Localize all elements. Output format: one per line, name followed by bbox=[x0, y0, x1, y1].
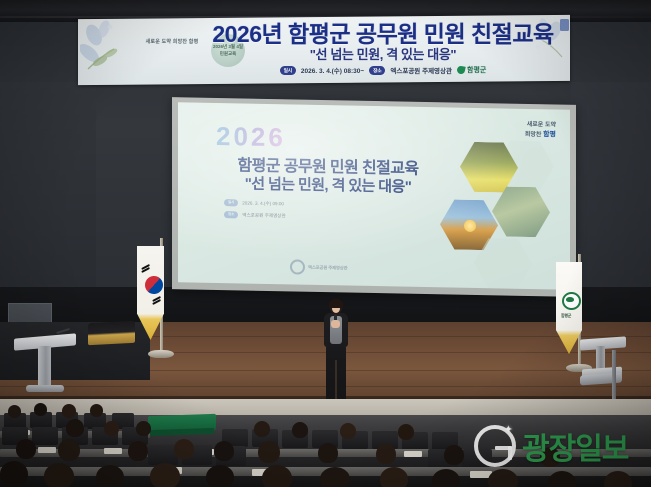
korean-flag-base bbox=[148, 350, 174, 358]
podium-base bbox=[26, 385, 64, 392]
event-banner: 새로운 도약 희망찬 함평 2026년 3월 4일 민원교육 2026년 함평군… bbox=[78, 15, 570, 85]
slide-hex-gallery bbox=[440, 141, 564, 255]
attendee-head bbox=[262, 465, 292, 487]
floral-decoration-icon bbox=[80, 19, 152, 81]
banner-place-pill: 장소 bbox=[369, 66, 385, 75]
banner-date-value: 2026. 3. 4.(수) 08:30~ bbox=[301, 65, 364, 75]
attendee-head bbox=[0, 461, 28, 487]
circle-mark-icon bbox=[290, 259, 305, 274]
attendee-head bbox=[58, 439, 80, 461]
handout-paper bbox=[38, 447, 56, 453]
attendee-head bbox=[320, 467, 350, 487]
attendee-head bbox=[258, 441, 280, 463]
slide-date-tag: 일시 bbox=[224, 199, 238, 206]
hampyeong-emblem-icon bbox=[562, 292, 581, 310]
slide-place-tag: 장소 bbox=[224, 211, 238, 218]
banner-meta: 일시 2026. 3. 4.(수) 08:30~ 장소 엑스포공원 주제영상관 … bbox=[198, 65, 568, 75]
attendee-head bbox=[254, 421, 270, 437]
attendee-head bbox=[16, 439, 36, 459]
slide-date-value: 2026. 3. 4.(수) 09:00 bbox=[242, 200, 284, 207]
slide-footer-text: 엑스포공원 주제영상관 bbox=[308, 264, 347, 271]
attendee-head bbox=[206, 465, 234, 487]
slide-subtitle: "선 넘는 민원, 격 있는 대응" bbox=[206, 172, 450, 198]
speaker-hands bbox=[331, 320, 340, 328]
banner-date-pill: 일시 bbox=[280, 66, 296, 75]
attendee-head bbox=[432, 469, 460, 487]
attendee-head bbox=[488, 469, 518, 487]
river-landscape-photo bbox=[492, 186, 550, 237]
watermark: ✦ 광장일보 bbox=[474, 424, 628, 468]
attendee-head bbox=[444, 445, 464, 465]
seat bbox=[32, 427, 58, 445]
attendee-head bbox=[214, 441, 234, 461]
banner-organizer-label: 함평군 bbox=[467, 65, 486, 75]
slide-place-value: 엑스포공원 주제영상관 bbox=[242, 212, 286, 219]
attendee-head bbox=[340, 423, 356, 439]
leaf-icon bbox=[456, 65, 465, 74]
slide-year: 2026 bbox=[216, 121, 286, 153]
attendee-head bbox=[66, 419, 84, 437]
attendee-head bbox=[380, 467, 408, 487]
sparkle-icon: ✦ bbox=[504, 425, 513, 436]
attendee-head bbox=[150, 463, 180, 487]
podium-stem bbox=[38, 346, 51, 388]
attendee-head bbox=[128, 441, 148, 461]
watermark-text: 광장일보 bbox=[522, 424, 628, 468]
green-front-desk-side bbox=[150, 428, 214, 436]
banner-place-value: 엑스포공원 주제영상관 bbox=[390, 65, 452, 75]
attendee-head bbox=[8, 405, 21, 418]
lantern-glow-icon bbox=[464, 220, 476, 232]
projection-screen: 2026 함평군 공무원 민원 친절교육 "선 넘는 민원, 격 있는 대응" … bbox=[178, 102, 570, 290]
banner-organizer: 함평군 bbox=[457, 65, 486, 75]
slide-brand: 새로운 도약 희망찬 함평 bbox=[525, 121, 556, 141]
slide-date-line: 일시 2026. 3. 4.(수) 09:00 bbox=[224, 199, 284, 207]
attendee-head bbox=[62, 404, 76, 418]
county-flag-label: 함평군 bbox=[561, 313, 571, 319]
banner-slogan: 새로운 도약 희망찬 함평 bbox=[142, 39, 202, 46]
handout-paper bbox=[104, 448, 122, 454]
event-photo-scene: 새로운 도약 희망찬 함평 2026년 3월 4일 민원교육 2026년 함평군… bbox=[0, 0, 651, 487]
decorative-chest-prop bbox=[88, 321, 135, 345]
attendee-head bbox=[174, 439, 194, 459]
banner-title: 2026년 함평군 공무원 민원 친절교육 bbox=[208, 21, 558, 47]
slide-footer: 엑스포공원 주제영상관 bbox=[290, 259, 347, 275]
slide-place-line: 장소 엑스포공원 주제영상관 bbox=[224, 211, 286, 219]
slide-brand-prefix: 희망찬 bbox=[525, 132, 543, 138]
attendee-head bbox=[376, 444, 396, 464]
attendee-head bbox=[318, 443, 338, 463]
attendee-head bbox=[90, 404, 103, 417]
attendee-head bbox=[44, 463, 74, 487]
handout-paper bbox=[404, 451, 422, 457]
slide-brand-line2: 희망찬 함평 bbox=[525, 130, 556, 141]
attendee-head bbox=[398, 424, 414, 440]
attendee-head bbox=[34, 403, 47, 416]
attendee-head bbox=[292, 422, 308, 438]
attendee-head bbox=[96, 465, 124, 487]
speaker-hair bbox=[329, 299, 343, 308]
speaker-leg-gap bbox=[335, 360, 337, 402]
circle-g-logo-icon: ✦ bbox=[474, 425, 516, 467]
attendee-head bbox=[104, 421, 119, 436]
slide-brand-strong: 함평 bbox=[543, 131, 556, 138]
attendee-head bbox=[136, 421, 151, 436]
banner-subtitle: "선 넘는 민원, 격 있는 대응" bbox=[208, 47, 558, 63]
